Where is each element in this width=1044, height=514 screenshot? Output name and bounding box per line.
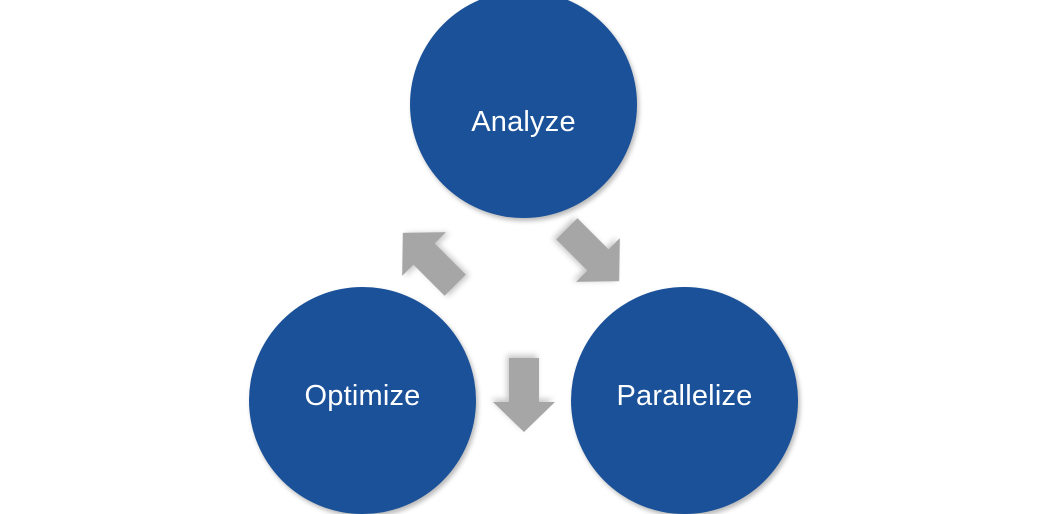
block-arrow-icon [493, 358, 555, 432]
block-arrow-icon [545, 207, 641, 303]
arrow-parallelize-to-optimize [493, 358, 555, 432]
arrow-analyze-to-parallelize [562, 218, 624, 292]
node-analyze-label: Analyze [471, 108, 576, 137]
node-parallelize[interactable]: Parallelize [571, 287, 798, 514]
node-optimize[interactable]: Optimize [249, 287, 476, 514]
node-parallelize-label: Parallelize [617, 382, 753, 411]
node-optimize-label: Optimize [304, 382, 420, 411]
diagram-canvas: Analyze Optimize Parallelize [0, 0, 1044, 514]
arrow-optimize-to-analyze [398, 222, 460, 296]
node-analyze[interactable]: Analyze [410, 0, 637, 218]
